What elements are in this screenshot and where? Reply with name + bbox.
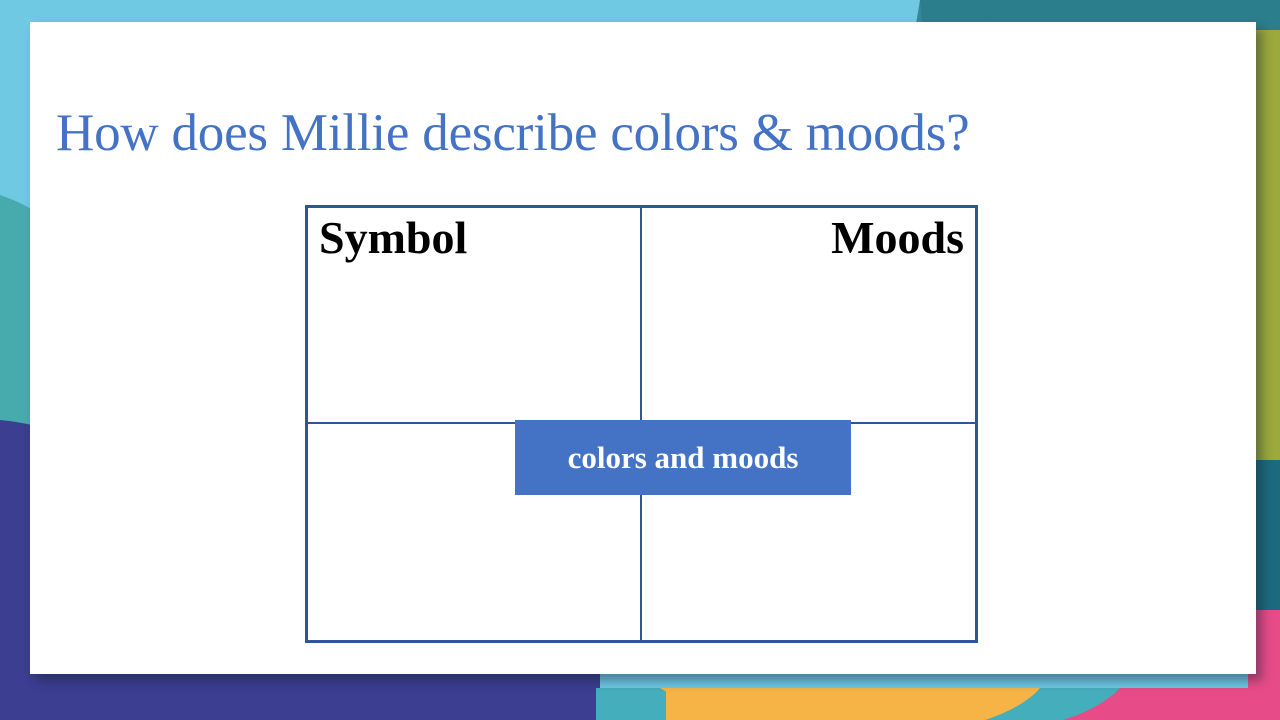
slide-title: How does Millie describe colors & moods? [56,106,1206,162]
slide: How does Millie describe colors & moods?… [0,0,1280,720]
bg-bottom-amber-block [666,688,1040,720]
slide-content-card: How does Millie describe colors & moods?… [30,22,1256,674]
center-label-text: colors and moods [568,442,799,473]
matrix-cell-label: Moods [831,212,964,264]
matrix-cell-moods-header[interactable]: Moods [642,208,976,424]
matrix-cell-label: Symbol [319,212,467,264]
matrix-cell-symbol-header[interactable]: Symbol [308,208,642,424]
bg-bottom-teal-left-block [596,688,666,720]
center-label-box[interactable]: colors and moods [515,420,851,495]
bg-bottom-pink-block [1120,688,1280,720]
